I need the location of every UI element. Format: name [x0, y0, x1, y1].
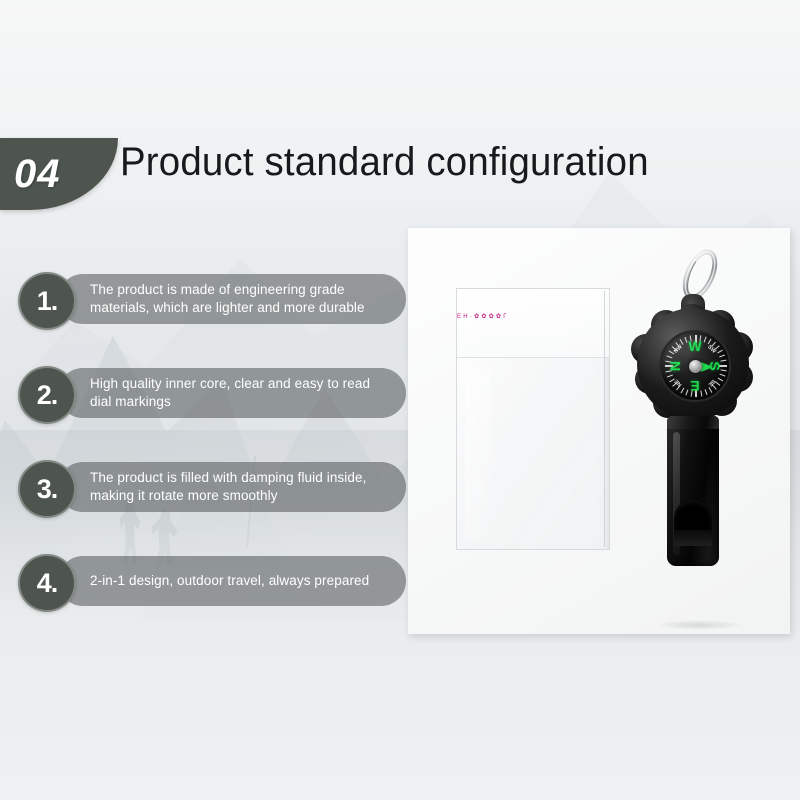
- product-shadow: [656, 620, 742, 630]
- compass-glass-reflection: [661, 332, 729, 400]
- section-header: 04 Product standard configuration: [0, 138, 800, 210]
- section-number: 04: [0, 152, 61, 197]
- bullet-text-pill: The product is made of engineering grade…: [58, 274, 406, 324]
- bullet-number-badge: 2.: [18, 366, 76, 424]
- bullet-number: 3.: [37, 476, 58, 503]
- compass-whistle-keychain: NESWNESESWNW: [623, 246, 763, 616]
- page-title: Product standard configuration: [120, 140, 649, 185]
- packaging-seal-strip: E H · ✿ ✿ ✿ ✿ Γ: [457, 311, 615, 322]
- whistle-collar: [667, 416, 719, 429]
- list-item: 3. The product is filled with damping fl…: [18, 460, 418, 516]
- bullet-text-pill: High quality inner core, clear and easy …: [58, 368, 406, 418]
- compass-dial: NESWNESESWNW: [659, 330, 731, 402]
- bullet-number-badge: 3.: [18, 460, 76, 518]
- whistle-body: [667, 416, 719, 566]
- bullet-number: 2.: [37, 382, 58, 409]
- packaging-seal-text: E H · ✿ ✿ ✿ ✿ Γ: [457, 313, 507, 321]
- bullet-number-badge: 1.: [18, 272, 76, 330]
- packaging-bag-edge: [604, 291, 605, 547]
- list-item: 4. 2-in-1 design, outdoor travel, always…: [18, 554, 418, 610]
- product-photo-card: E H · ✿ ✿ ✿ ✿ Γ: [408, 228, 790, 634]
- slide-canvas: 04 Product standard configuration 1. The…: [0, 0, 800, 800]
- packaging-bag: E H · ✿ ✿ ✿ ✿ Γ: [456, 288, 610, 550]
- bullet-text: High quality inner core, clear and easy …: [90, 375, 392, 411]
- compass-bezel: NESWNESESWNW: [637, 308, 749, 420]
- packaging-bag-glare: [465, 369, 491, 539]
- bullet-text-pill: The product is filled with damping fluid…: [58, 462, 406, 512]
- bullet-text-pill: 2-in-1 design, outdoor travel, always pr…: [58, 556, 406, 606]
- bullet-text: The product is made of engineering grade…: [90, 281, 392, 317]
- section-number-badge: 04: [0, 138, 118, 210]
- feature-list: 1. The product is made of engineering gr…: [18, 272, 418, 648]
- packaging-bag-flap: [457, 289, 609, 358]
- list-item: 1. The product is made of engineering gr…: [18, 272, 418, 328]
- bullet-text: 2-in-1 design, outdoor travel, always pr…: [90, 572, 369, 590]
- bullet-number: 4.: [37, 570, 58, 597]
- bullet-number-badge: 4.: [18, 554, 76, 612]
- bullet-number: 1.: [37, 288, 58, 315]
- bullet-text: The product is filled with damping fluid…: [90, 469, 392, 505]
- list-item: 2. High quality inner core, clear and ea…: [18, 366, 418, 422]
- whistle-mouth-opening: [674, 500, 712, 534]
